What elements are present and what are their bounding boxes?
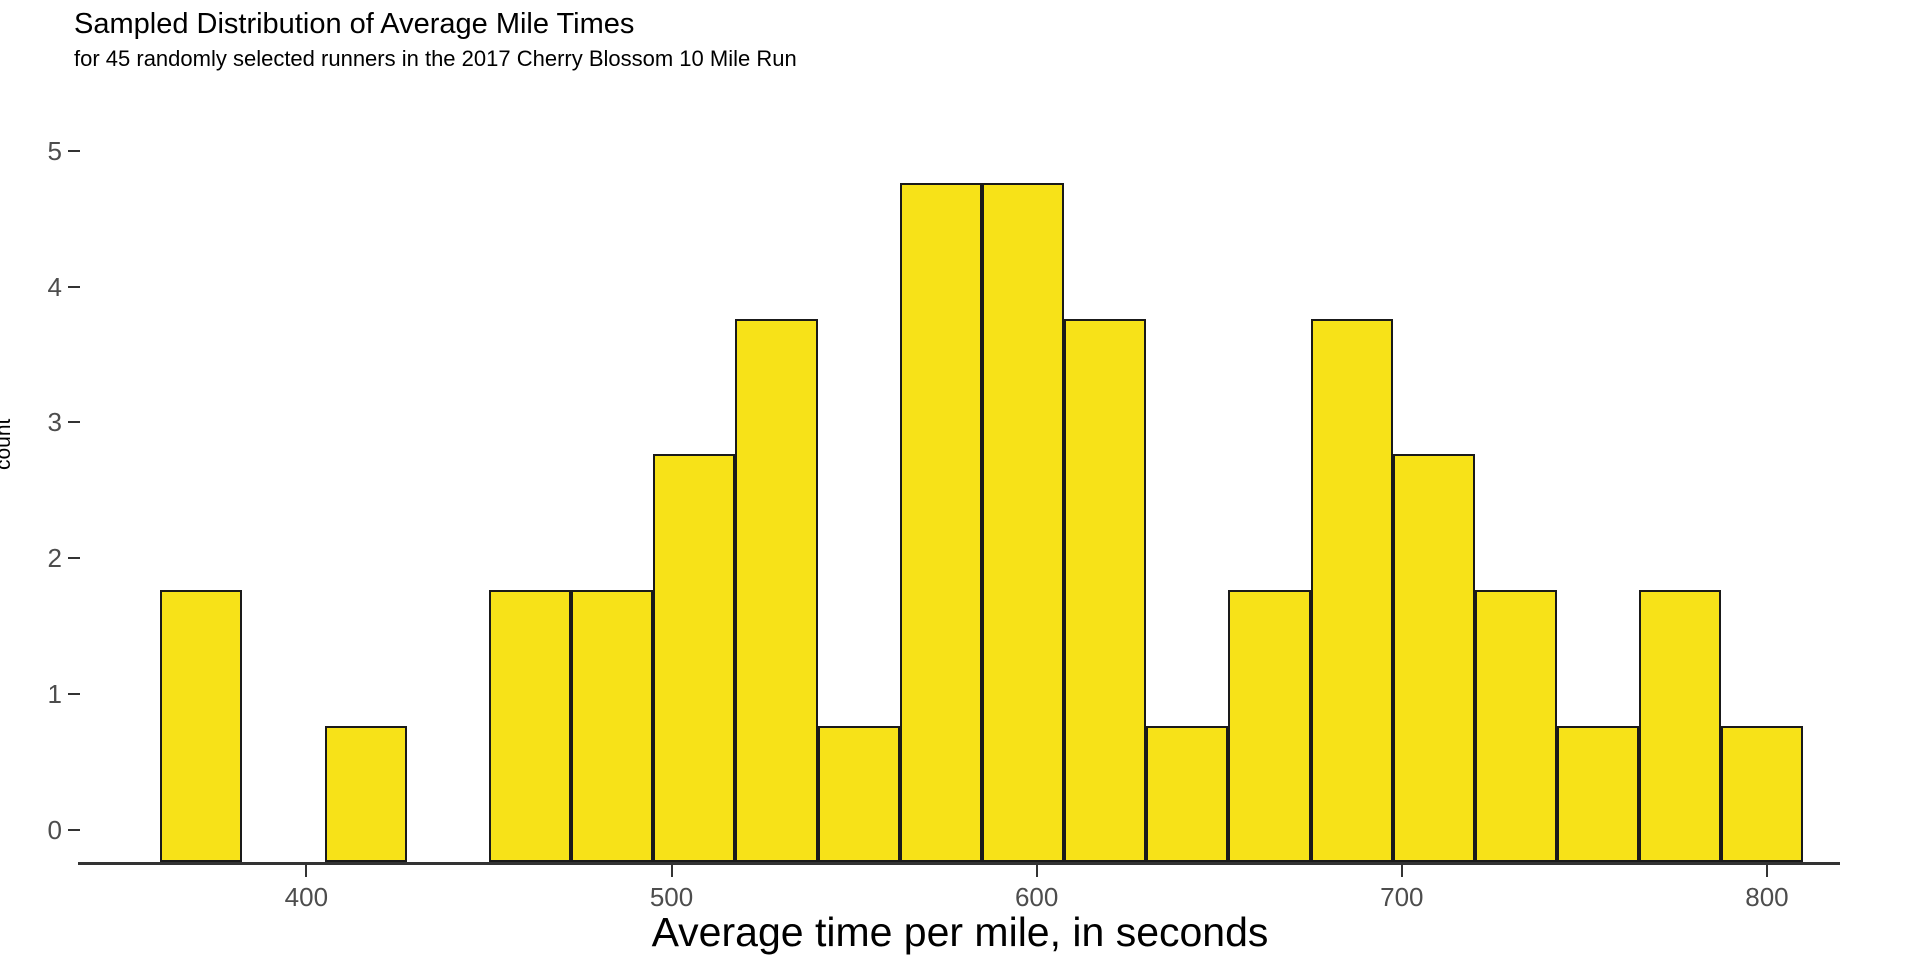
title-block: Sampled Distribution of Average Mile Tim… <box>74 6 1774 74</box>
chart-subtitle: for 45 randomly selected runners in the … <box>74 44 1774 74</box>
histogram-bar <box>325 726 407 862</box>
histogram-bar <box>1639 590 1721 862</box>
y-tick-label: 2 <box>0 545 62 571</box>
histogram-bar <box>1475 590 1557 862</box>
y-tick-label: 4 <box>0 274 62 300</box>
y-tick-label: 1 <box>0 681 62 707</box>
y-tick-mark <box>68 829 80 831</box>
histogram-bar <box>571 590 653 862</box>
y-tick-label: 5 <box>0 138 62 164</box>
y-tick-mark <box>68 557 80 559</box>
y-tick-label: 3 <box>0 409 62 435</box>
histogram-bar <box>1557 726 1639 862</box>
x-tick-mark <box>1766 865 1768 877</box>
histogram-bar <box>1311 319 1393 862</box>
histogram-bar <box>1064 319 1146 862</box>
histogram-bar <box>489 590 571 862</box>
y-tick-mark <box>68 286 80 288</box>
plot-area <box>80 110 1840 862</box>
x-tick-mark <box>305 865 307 877</box>
chart-title: Sampled Distribution of Average Mile Tim… <box>74 6 1774 42</box>
histogram-bar <box>1146 726 1228 862</box>
y-tick-mark <box>68 421 80 423</box>
y-tick-mark <box>68 693 80 695</box>
histogram-bar <box>1228 590 1310 862</box>
x-tick-mark <box>1401 865 1403 877</box>
x-tick-mark <box>1036 865 1038 877</box>
histogram-bar <box>1721 726 1803 862</box>
x-axis-line <box>78 862 1840 865</box>
histogram-bar <box>900 183 982 862</box>
x-tick-mark <box>671 865 673 877</box>
histogram-bar <box>982 183 1064 862</box>
x-axis-title: Average time per mile, in seconds <box>0 908 1920 956</box>
histogram-bar <box>1393 454 1475 862</box>
histogram-bar <box>653 454 735 862</box>
histogram-bar <box>160 590 242 862</box>
y-tick-mark <box>68 150 80 152</box>
histogram-bar <box>735 319 817 862</box>
chart-figure: Sampled Distribution of Average Mile Tim… <box>0 0 1920 960</box>
histogram-bars <box>80 110 1840 862</box>
y-tick-label: 0 <box>0 817 62 843</box>
histogram-bar <box>818 726 900 862</box>
